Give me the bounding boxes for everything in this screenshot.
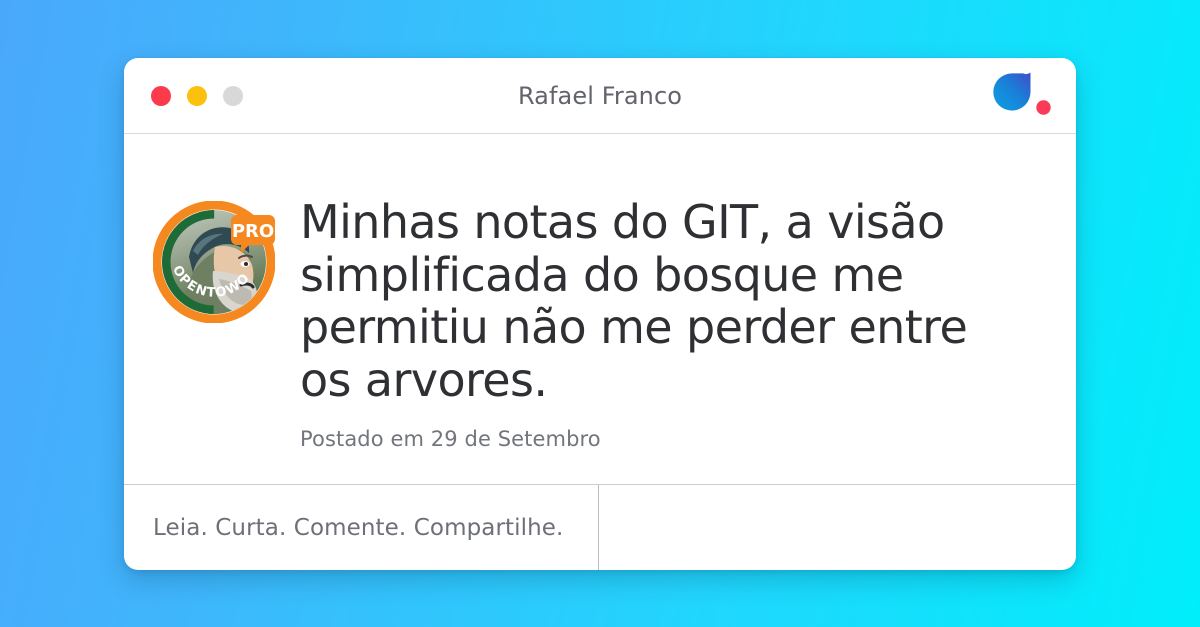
post-date: Postado em 29 de Setembro <box>300 427 1042 451</box>
post-text-block: Minhas notas do GIT, a visão simplificad… <box>300 196 1042 451</box>
window-title: Rafael Franco <box>124 82 1076 110</box>
footer-cta-text: Leia. Curta. Comente. Compartilhe. <box>153 515 563 541</box>
avatar[interactable]: #OPENTOWORK PRO <box>153 201 275 323</box>
footer-right-cell <box>599 485 1076 570</box>
svg-text:PRO: PRO <box>232 221 274 242</box>
post-body: #OPENTOWORK PRO Minhas notas do GIT, a v… <box>124 134 1076 484</box>
droplet-logo-icon <box>990 70 1052 122</box>
post-card: Rafael Franco <box>124 58 1076 570</box>
window-titlebar: Rafael Franco <box>124 58 1076 134</box>
footer-left-cell: Leia. Curta. Comente. Compartilhe. <box>124 485 599 570</box>
post-footer: Leia. Curta. Comente. Compartilhe. <box>124 484 1076 570</box>
post-headline: Minhas notas do GIT, a visão simplificad… <box>300 196 980 407</box>
